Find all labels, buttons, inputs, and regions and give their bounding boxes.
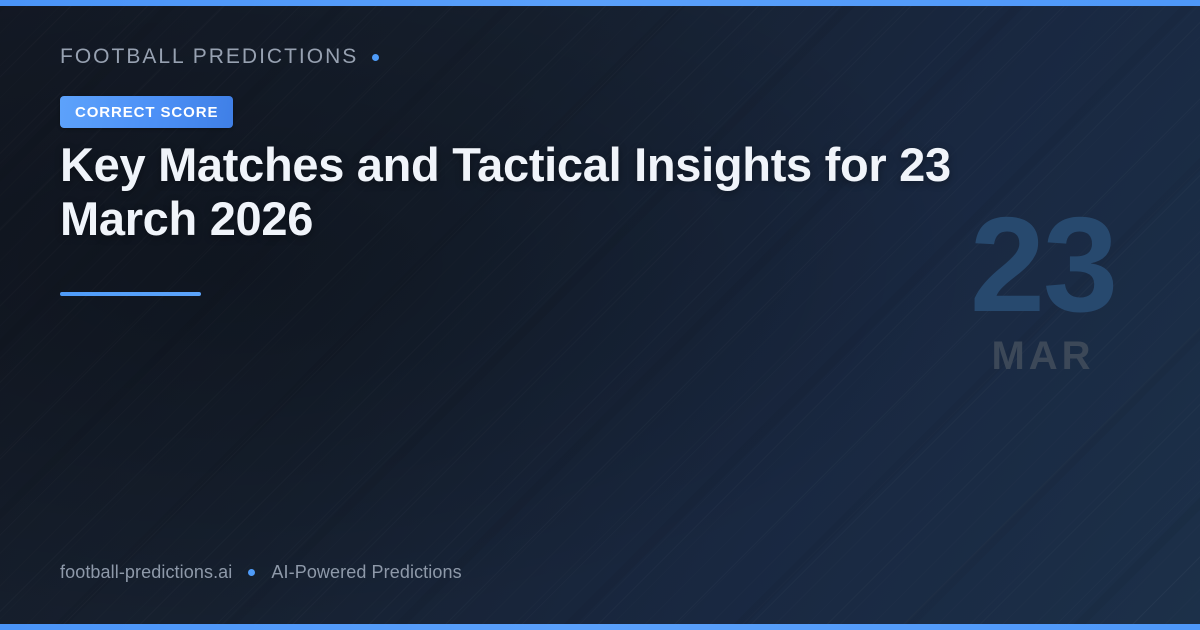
blue-dot-icon bbox=[248, 569, 255, 576]
date-block: 23 MAR bbox=[948, 206, 1138, 376]
category-badge-label: CORRECT SCORE bbox=[75, 104, 218, 121]
bottom-accent-bar bbox=[0, 624, 1200, 630]
top-accent-bar bbox=[0, 0, 1200, 6]
eyebrow: FOOTBALL PREDICTIONS bbox=[60, 45, 379, 69]
eyebrow-label: FOOTBALL PREDICTIONS bbox=[60, 45, 358, 69]
social-share-banner: FOOTBALL PREDICTIONS CORRECT SCORE Key M… bbox=[0, 0, 1200, 630]
footer-tagline: AI-Powered Predictions bbox=[271, 562, 461, 583]
title-underline-rule bbox=[60, 292, 201, 296]
banner-content: FOOTBALL PREDICTIONS CORRECT SCORE Key M… bbox=[0, 0, 1200, 630]
category-badge[interactable]: CORRECT SCORE bbox=[60, 96, 233, 128]
date-day: 23 bbox=[948, 206, 1138, 324]
date-month: MAR bbox=[948, 336, 1138, 376]
page-title: Key Matches and Tactical Insights for 23… bbox=[60, 138, 1060, 246]
footer-site-name[interactable]: football-predictions.ai bbox=[60, 562, 232, 583]
blue-dot-icon bbox=[372, 54, 379, 61]
footer: football-predictions.ai AI-Powered Predi… bbox=[60, 562, 462, 583]
